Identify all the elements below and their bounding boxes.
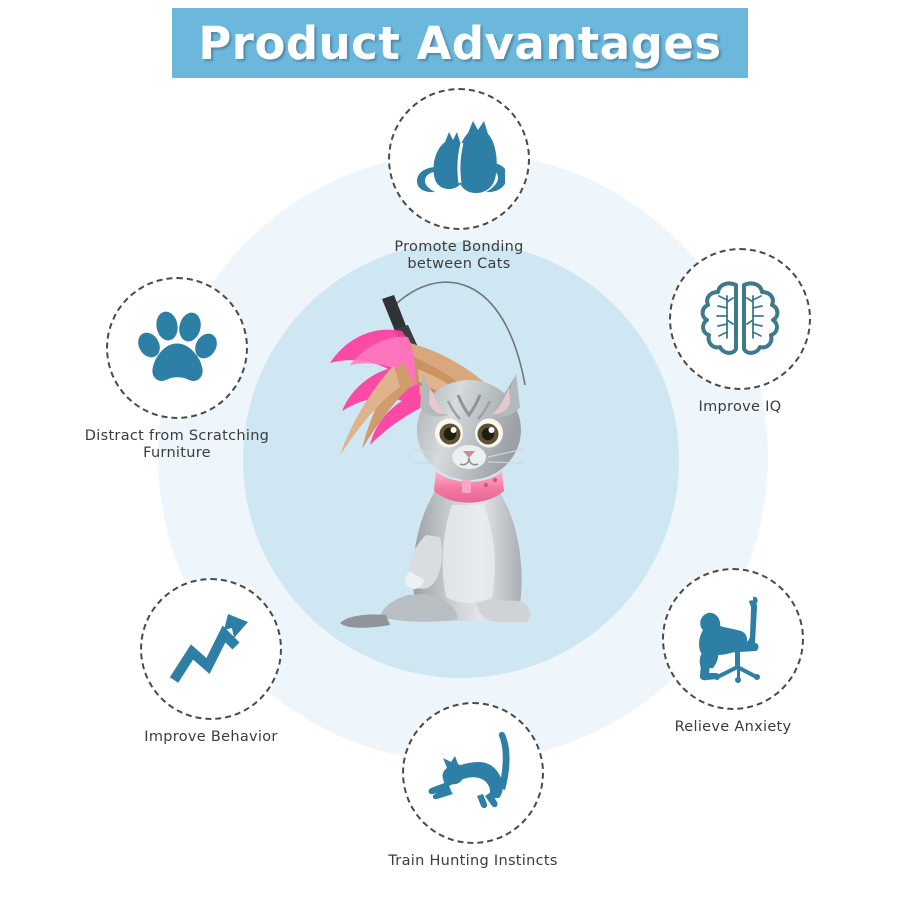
page-title: Product Advantages <box>198 17 721 70</box>
title-banner: Product Advantages <box>172 8 748 78</box>
feature-label: Improve IQ <box>620 399 860 416</box>
feature-improve-iq[interactable]: Improve IQ <box>620 248 860 416</box>
feature-relieve-anxiety[interactable]: Relieve Anxiety <box>613 568 853 736</box>
stressed-person-in-chair-icon <box>687 595 779 683</box>
feature-icon-circle <box>106 277 248 419</box>
two-cats-icon <box>413 119 505 199</box>
brain-icon <box>697 276 783 362</box>
feature-icon-circle <box>140 578 282 720</box>
feature-label: Relieve Anxiety <box>613 719 853 736</box>
feature-label: Distract from Scratching Furniture <box>57 428 297 462</box>
feature-icon-circle <box>669 248 811 390</box>
feature-train-hunting-instincts[interactable]: Train Hunting Instincts <box>353 702 593 870</box>
feature-promote-bonding[interactable]: Promote Bonding between Cats <box>339 88 579 273</box>
hero-cat-illustration <box>290 265 620 645</box>
feature-improve-behavior[interactable]: Improve Behavior <box>91 578 331 746</box>
feature-label: Train Hunting Instincts <box>353 853 593 870</box>
feature-label: Improve Behavior <box>91 729 331 746</box>
feature-icon-circle <box>662 568 804 710</box>
upward-trend-arrow-icon <box>166 608 256 690</box>
feature-icon-circle <box>388 88 530 230</box>
feature-distract-from-scratching[interactable]: Distract from Scratching Furniture <box>57 277 297 462</box>
feature-label: Promote Bonding between Cats <box>339 239 579 273</box>
product-advantages-infographic: Product Advantages <box>0 0 900 900</box>
pouncing-cat-icon <box>425 730 521 816</box>
feature-icon-circle <box>402 702 544 844</box>
paw-print-icon <box>134 305 220 391</box>
